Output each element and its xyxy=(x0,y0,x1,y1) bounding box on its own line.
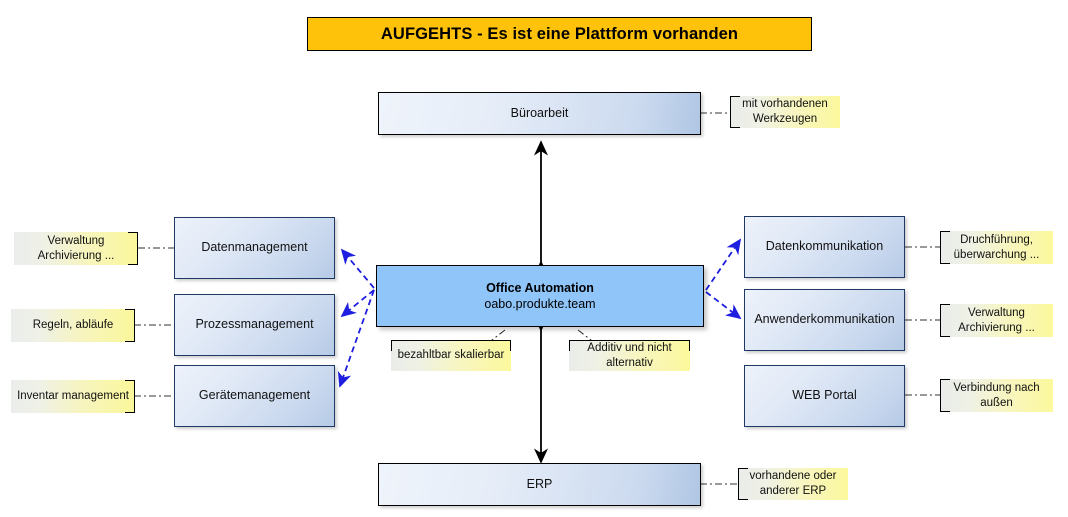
note-erp-text: vorhandene oder anderer ERP xyxy=(742,469,844,499)
note-datenkommunikation-text: Druchführung, überwarchung ... xyxy=(944,233,1049,263)
note-web-portal-text: Verbindung nach außen xyxy=(944,381,1049,411)
node-office-automation[interactable]: Office Automation oabo.produkte.team xyxy=(376,265,704,327)
note-geraetemanagement-text: Inventar management xyxy=(17,389,129,404)
note-datenmanagement: Verwaltung Archivierung ... xyxy=(14,232,138,265)
note-datenkommunikation: Druchführung, überwarchung ... xyxy=(940,231,1053,264)
node-datenmanagement[interactable]: Datenmanagement xyxy=(174,217,335,279)
node-prozessmanagement[interactable]: Prozessmanagement xyxy=(174,294,335,356)
arrow-center-to-geraetemanagement xyxy=(340,290,374,386)
note-bracket xyxy=(738,468,739,500)
node-buroarbeit-label: Büroarbeit xyxy=(511,106,569,122)
arrow-center-to-datenkommunikation xyxy=(706,240,740,290)
arrow-center-to-datenmanagement xyxy=(342,250,374,288)
note-prozessmanagement-text: Regeln, abläufe xyxy=(33,318,114,333)
node-geraetemanagement[interactable]: Gerätemanagement xyxy=(174,365,335,427)
note-bracket xyxy=(730,96,731,128)
connector-layer xyxy=(0,0,1068,517)
node-prozessmanagement-label: Prozessmanagement xyxy=(195,317,313,333)
note-bracket xyxy=(391,340,511,341)
note-prozessmanagement: Regeln, abläufe xyxy=(11,309,135,342)
note-geraetemanagement: Inventar management xyxy=(11,380,135,413)
note-anwenderkommunikation: Verwaltung Archivierung ... xyxy=(940,304,1053,337)
node-buroarbeit[interactable]: Büroarbeit xyxy=(378,92,701,135)
note-bracket xyxy=(940,231,941,264)
diagram-canvas: AUFGEHTS - Es ist eine Plattform vorhand… xyxy=(0,0,1068,517)
node-geraetemanagement-label: Gerätemanagement xyxy=(199,388,310,404)
note-erp: vorhandene oder anderer ERP xyxy=(738,468,848,500)
note-buroarbeit-text: mit vorhandenen Werkzeugen xyxy=(734,97,836,127)
note-datenmanagement-text: Verwaltung Archivierung ... xyxy=(18,234,134,264)
node-datenkommunikation[interactable]: Datenkommunikation xyxy=(744,216,905,278)
node-erp[interactable]: ERP xyxy=(378,463,701,506)
node-erp-label: ERP xyxy=(527,477,553,493)
node-web-portal[interactable]: WEB Portal xyxy=(744,365,905,427)
node-office-automation-line2: oabo.produkte.team xyxy=(484,296,595,312)
note-web-portal: Verbindung nach außen xyxy=(940,379,1053,412)
note-bracket xyxy=(569,340,690,341)
node-datenkommunikation-label: Datenkommunikation xyxy=(766,239,883,255)
node-anwenderkommunikation-label: Anwenderkommunikation xyxy=(754,312,894,328)
note-bracket xyxy=(137,232,138,265)
note-bracket xyxy=(940,379,941,412)
node-anwenderkommunikation[interactable]: Anwenderkommunikation xyxy=(744,289,905,351)
note-bezahltbar-skalierbar: bezahltbar skalierbar xyxy=(391,340,511,371)
note-anwenderkommunikation-text: Verwaltung Archivierung ... xyxy=(944,306,1049,336)
arrow-center-to-prozessmanagement xyxy=(342,290,374,316)
note-additiv-alternativ: Additiv und nicht alternativ xyxy=(569,340,690,371)
note-bracket xyxy=(940,304,941,337)
note-bracket xyxy=(134,380,135,413)
page-title: AUFGEHTS - Es ist eine Plattform vorhand… xyxy=(307,17,812,51)
node-datenmanagement-label: Datenmanagement xyxy=(201,240,307,256)
note-additiv-text: Additiv und nicht alternativ xyxy=(573,341,686,371)
node-office-automation-line1: Office Automation xyxy=(486,280,594,296)
arrow-center-to-anwenderkommunikation xyxy=(706,292,740,318)
node-web-portal-label: WEB Portal xyxy=(792,388,857,404)
note-buroarbeit: mit vorhandenen Werkzeugen xyxy=(730,96,840,128)
note-bracket xyxy=(134,309,135,342)
note-bezahltbar-text: bezahltbar skalierbar xyxy=(398,348,505,363)
